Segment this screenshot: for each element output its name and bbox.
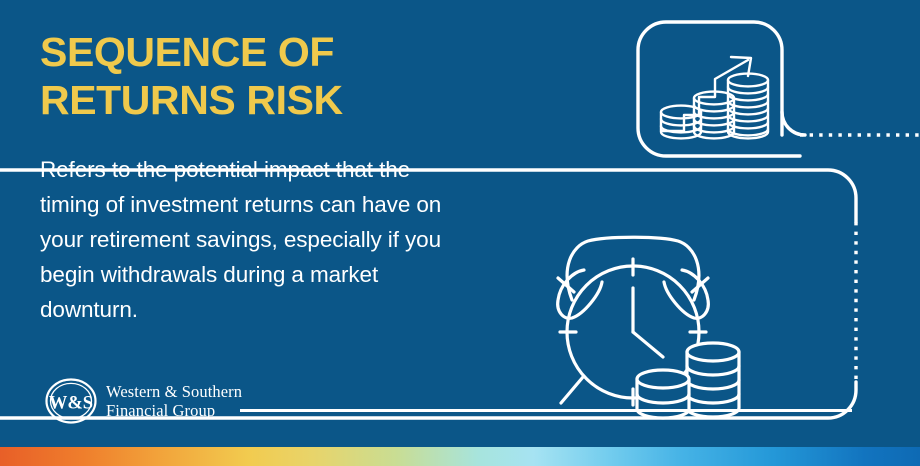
growth-card-outline [638,22,800,156]
brand-gradient-bar [0,447,920,466]
brand-logo: W&S Western & Southern Financial Group [44,377,242,425]
ws-monogram-icon: W&S [44,377,98,425]
infographic-canvas: SEQUENCE OF RETURNS RISK Refers to the p… [0,0,920,466]
definition-line-2: timing of investment returns can have on [40,187,518,222]
brand-name: Western & Southern Financial Group [106,382,242,420]
page-title: SEQUENCE OF RETURNS RISK [40,28,540,124]
coin-stack-tall [687,343,739,417]
clock-hand-minute [633,332,663,357]
definition-line-5: downturn. [40,292,518,327]
brand-name-line-1: Western & Southern [106,382,242,401]
logo-divider-rule [240,409,852,412]
page-title-line-1: SEQUENCE OF [40,28,540,76]
definition-line-4: begin withdrawals during a market [40,257,518,292]
clock-foot-left [561,377,583,403]
text-column: SEQUENCE OF RETURNS RISK Refers to the p… [40,0,560,466]
connector-curve-top [782,112,805,135]
brand-name-line-2: Financial Group [106,401,242,420]
coin-stacks-growth-arrow-icon [661,57,768,138]
definition-line-3: your retirement savings, especially if y… [40,222,518,257]
definition-paragraph: Refers to the potential impact that the … [40,152,518,327]
page-title-line-2: RETURNS RISK [40,76,540,124]
coin-stacks-icon [637,343,739,418]
ws-monogram-text: W&S [49,394,93,414]
definition-line-1: Refers to the potential impact that the [40,152,518,187]
